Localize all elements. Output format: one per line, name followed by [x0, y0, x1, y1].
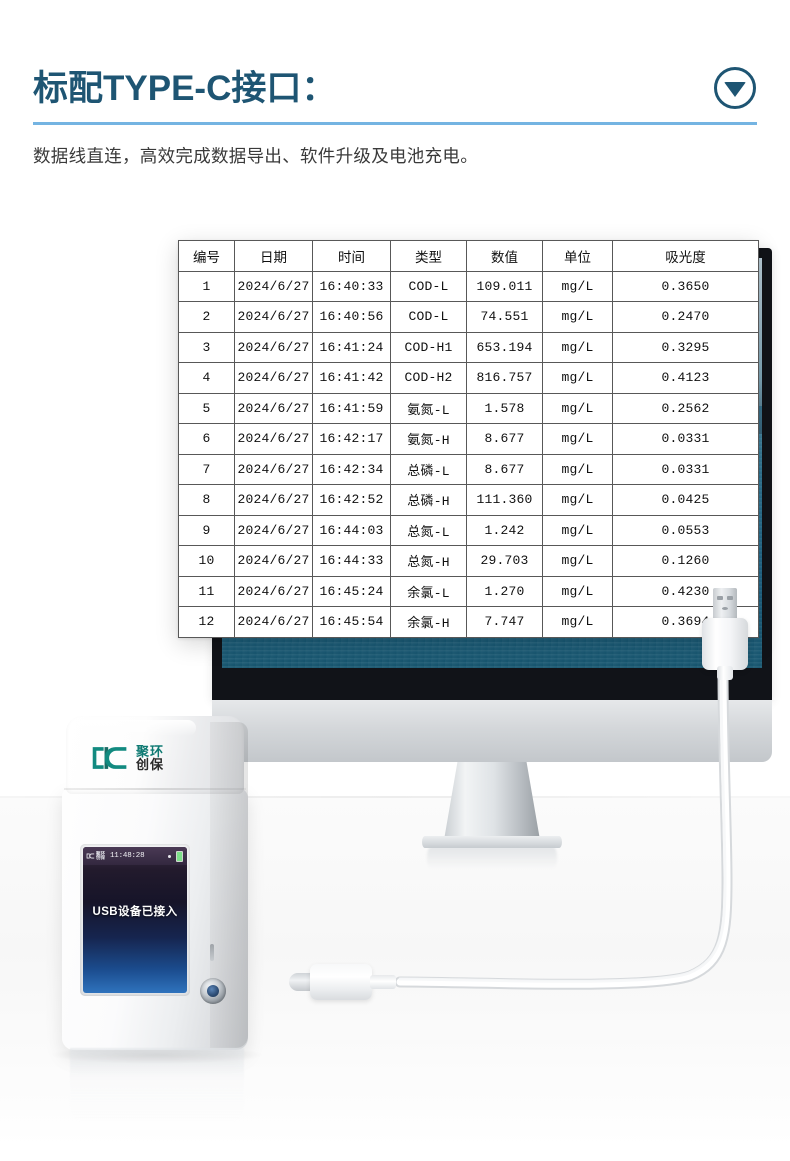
table-header-row: 编号 日期 时间 类型 数值 单位 吸光度 — [179, 241, 759, 272]
device-reflection — [70, 1048, 244, 1122]
cell-no: 2 — [179, 302, 235, 333]
cell-unit: mg/L — [543, 363, 613, 394]
table-row[interactable]: 12024/6/2716:40:33COD-L109.011mg/L0.3650 — [179, 271, 759, 302]
column-header-date: 日期 — [235, 241, 313, 272]
chevron-down-glyph — [724, 82, 746, 97]
product-detail-page: 标配TYPE-C接口： 数据线直连，高效完成数据导出、软件升级及电池充电。 — [0, 0, 790, 1161]
cell-no: 7 — [179, 454, 235, 485]
cell-absorbance: 0.2562 — [613, 393, 759, 424]
table-row[interactable]: 32024/6/2716:41:24COD-H1653.194mg/L0.329… — [179, 332, 759, 363]
cell-type: 氨氮-H — [391, 424, 467, 455]
cell-absorbance: 0.2470 — [613, 302, 759, 333]
table-row[interactable]: 122024/6/2716:45:54余氯-H7.747mg/L0.3694 — [179, 607, 759, 638]
cell-no: 5 — [179, 393, 235, 424]
usb-c-housing — [310, 964, 372, 1000]
table-row[interactable]: 62024/6/2716:42:17氨氮-H8.677mg/L0.0331 — [179, 424, 759, 455]
cell-date: 2024/6/27 — [235, 424, 313, 455]
cell-time: 16:42:17 — [313, 424, 391, 455]
device-brand-text: 聚环 创保 — [136, 745, 164, 772]
device-type-c-port-slot — [210, 944, 214, 961]
page-title: 标配TYPE-C接口： — [33, 71, 336, 106]
monitor-stand-neck — [444, 762, 540, 840]
cell-unit: mg/L — [543, 271, 613, 302]
monitor-chin — [212, 700, 772, 762]
display-message: USB设备已接入 — [83, 903, 187, 919]
table-row[interactable]: 72024/6/2716:42:34总磷-L8.677mg/L0.0331 — [179, 454, 759, 485]
usb-c-plug-icon — [289, 964, 409, 1000]
cell-date: 2024/6/27 — [235, 485, 313, 516]
table-row[interactable]: 92024/6/2716:44:03总氮-L1.242mg/L0.0553 — [179, 515, 759, 546]
exported-data-table-window: 编号 日期 时间 类型 数值 单位 吸光度 12024/6/2716:40:33… — [178, 240, 758, 638]
cell-type: 总磷-L — [391, 454, 467, 485]
cell-no: 4 — [179, 363, 235, 394]
cell-no: 9 — [179, 515, 235, 546]
table-body: 12024/6/2716:40:33COD-L109.011mg/L0.3650… — [179, 271, 759, 637]
usb-c-strain-relief — [370, 975, 396, 989]
cell-absorbance: 0.4123 — [613, 363, 759, 394]
cell-value: 1.270 — [467, 576, 543, 607]
column-header-type: 类型 — [391, 241, 467, 272]
cell-value: 816.757 — [467, 363, 543, 394]
cell-time: 16:45:54 — [313, 607, 391, 638]
cell-absorbance: 0.0553 — [613, 515, 759, 546]
column-header-time: 时间 — [313, 241, 391, 272]
device-display-bezel: 聚环 创保 11:48:28 USB设备已接入 — [80, 844, 190, 996]
cell-unit: mg/L — [543, 515, 613, 546]
cell-time: 16:44:33 — [313, 546, 391, 577]
cell-value: 7.747 — [467, 607, 543, 638]
cell-type: COD-L — [391, 302, 467, 333]
cell-absorbance: 0.0331 — [613, 454, 759, 485]
cell-value: 653.194 — [467, 332, 543, 363]
cell-date: 2024/6/27 — [235, 393, 313, 424]
cell-no: 8 — [179, 485, 235, 516]
table-row[interactable]: 52024/6/2716:41:59氨氮-L1.578mg/L0.2562 — [179, 393, 759, 424]
cell-time: 16:40:33 — [313, 271, 391, 302]
device-top-highlight — [76, 720, 196, 736]
cell-absorbance: 0.0425 — [613, 485, 759, 516]
cell-unit: mg/L — [543, 485, 613, 516]
monitor-stand-reflection — [427, 847, 557, 869]
cell-value: 1.242 — [467, 515, 543, 546]
brand-line-2: 创保 — [136, 758, 164, 771]
cell-unit: mg/L — [543, 424, 613, 455]
display-logo-line-2: 创保 — [96, 856, 105, 861]
cell-date: 2024/6/27 — [235, 607, 313, 638]
cell-value: 74.551 — [467, 302, 543, 333]
cell-type: 总氮-H — [391, 546, 467, 577]
cell-date: 2024/6/27 — [235, 332, 313, 363]
usb-a-strain-relief — [717, 666, 733, 680]
header-subtitle: 数据线直连，高效完成数据导出、软件升级及电池充电。 — [33, 143, 757, 168]
column-header-value: 数值 — [467, 241, 543, 272]
cell-value: 8.677 — [467, 424, 543, 455]
cell-no: 6 — [179, 424, 235, 455]
cell-unit: mg/L — [543, 302, 613, 333]
cell-value: 29.703 — [467, 546, 543, 577]
cell-date: 2024/6/27 — [235, 302, 313, 333]
cell-date: 2024/6/27 — [235, 271, 313, 302]
cell-no: 1 — [179, 271, 235, 302]
usb-a-plug-icon — [702, 588, 748, 680]
cell-absorbance: 0.3650 — [613, 271, 759, 302]
cell-time: 16:41:42 — [313, 363, 391, 394]
usb-a-metal-shell — [713, 588, 737, 622]
measurement-table: 编号 日期 时间 类型 数值 单位 吸光度 12024/6/2716:40:33… — [178, 240, 759, 638]
cell-date: 2024/6/27 — [235, 363, 313, 394]
table-row[interactable]: 82024/6/2716:42:52总磷-H111.360mg/L0.0425 — [179, 485, 759, 516]
cell-type: 总磷-H — [391, 485, 467, 516]
cell-date: 2024/6/27 — [235, 576, 313, 607]
cell-absorbance: 0.1260 — [613, 546, 759, 577]
device-brand-logo: 聚环 创保 — [90, 738, 200, 778]
header-divider — [33, 122, 757, 125]
cell-unit: mg/L — [543, 332, 613, 363]
cell-value: 111.360 — [467, 485, 543, 516]
display-status-bar: 聚环 创保 11:48:28 — [83, 847, 187, 865]
cell-type: 氨氮-L — [391, 393, 467, 424]
header-row: 标配TYPE-C接口： — [33, 60, 757, 116]
cell-type: COD-L — [391, 271, 467, 302]
cell-time: 16:41:59 — [313, 393, 391, 424]
cell-unit: mg/L — [543, 607, 613, 638]
header-block: 标配TYPE-C接口： 数据线直连，高效完成数据导出、软件升级及电池充电。 — [33, 60, 757, 168]
product-scene: 编号 日期 时间 类型 数值 单位 吸光度 12024/6/2716:40:33… — [0, 190, 790, 1161]
jc-logo-mark-icon — [90, 744, 130, 772]
cell-time: 16:44:03 — [313, 515, 391, 546]
table-row[interactable]: 102024/6/2716:44:33总氮-H29.703mg/L0.1260 — [179, 546, 759, 577]
cell-value: 1.578 — [467, 393, 543, 424]
cell-date: 2024/6/27 — [235, 515, 313, 546]
chevron-down-circle-icon — [714, 67, 756, 109]
bottom-fade — [0, 1120, 790, 1161]
display-logo: 聚环 创保 — [86, 852, 105, 861]
cell-no: 10 — [179, 546, 235, 577]
cell-type: 总氮-L — [391, 515, 467, 546]
column-header-absorbance: 吸光度 — [613, 241, 759, 272]
device-display[interactable]: 聚环 创保 11:48:28 USB设备已接入 — [83, 847, 187, 993]
cell-time: 16:45:24 — [313, 576, 391, 607]
cell-date: 2024/6/27 — [235, 546, 313, 577]
table-row[interactable]: 22024/6/2716:40:56COD-L74.551mg/L0.2470 — [179, 302, 759, 333]
cell-time: 16:42:34 — [313, 454, 391, 485]
battery-icon — [176, 851, 183, 862]
brand-line-1: 聚环 — [136, 745, 164, 758]
cell-time: 16:40:56 — [313, 302, 391, 333]
display-clock: 11:48:28 — [110, 852, 144, 860]
cell-absorbance: 0.3295 — [613, 332, 759, 363]
table-row[interactable]: 42024/6/2716:41:42COD-H2816.757mg/L0.412… — [179, 363, 759, 394]
cell-unit: mg/L — [543, 393, 613, 424]
cell-value: 8.677 — [467, 454, 543, 485]
display-jc-mark-icon — [86, 852, 95, 860]
cell-absorbance: 0.0331 — [613, 424, 759, 455]
cell-type: 余氯-H — [391, 607, 467, 638]
table-row[interactable]: 112024/6/2716:45:24余氯-L1.270mg/L0.4230 — [179, 576, 759, 607]
cell-type: COD-H1 — [391, 332, 467, 363]
column-header-no: 编号 — [179, 241, 235, 272]
cell-time: 16:41:24 — [313, 332, 391, 363]
cell-date: 2024/6/27 — [235, 454, 313, 485]
cell-unit: mg/L — [543, 546, 613, 577]
cell-no: 12 — [179, 607, 235, 638]
cell-type: 余氯-L — [391, 576, 467, 607]
water-quality-analyzer: 聚环 创保 聚环 — [62, 716, 262, 1056]
column-header-unit: 单位 — [543, 241, 613, 272]
cell-no: 3 — [179, 332, 235, 363]
usb-a-housing — [702, 618, 748, 670]
cell-unit: mg/L — [543, 454, 613, 485]
cell-type: COD-H2 — [391, 363, 467, 394]
cell-value: 109.011 — [467, 271, 543, 302]
cell-time: 16:42:52 — [313, 485, 391, 516]
cell-no: 11 — [179, 576, 235, 607]
display-logo-text: 聚环 创保 — [96, 852, 105, 861]
device-optical-port — [200, 978, 226, 1004]
display-indicator-dot-icon — [168, 855, 171, 858]
cell-unit: mg/L — [543, 576, 613, 607]
